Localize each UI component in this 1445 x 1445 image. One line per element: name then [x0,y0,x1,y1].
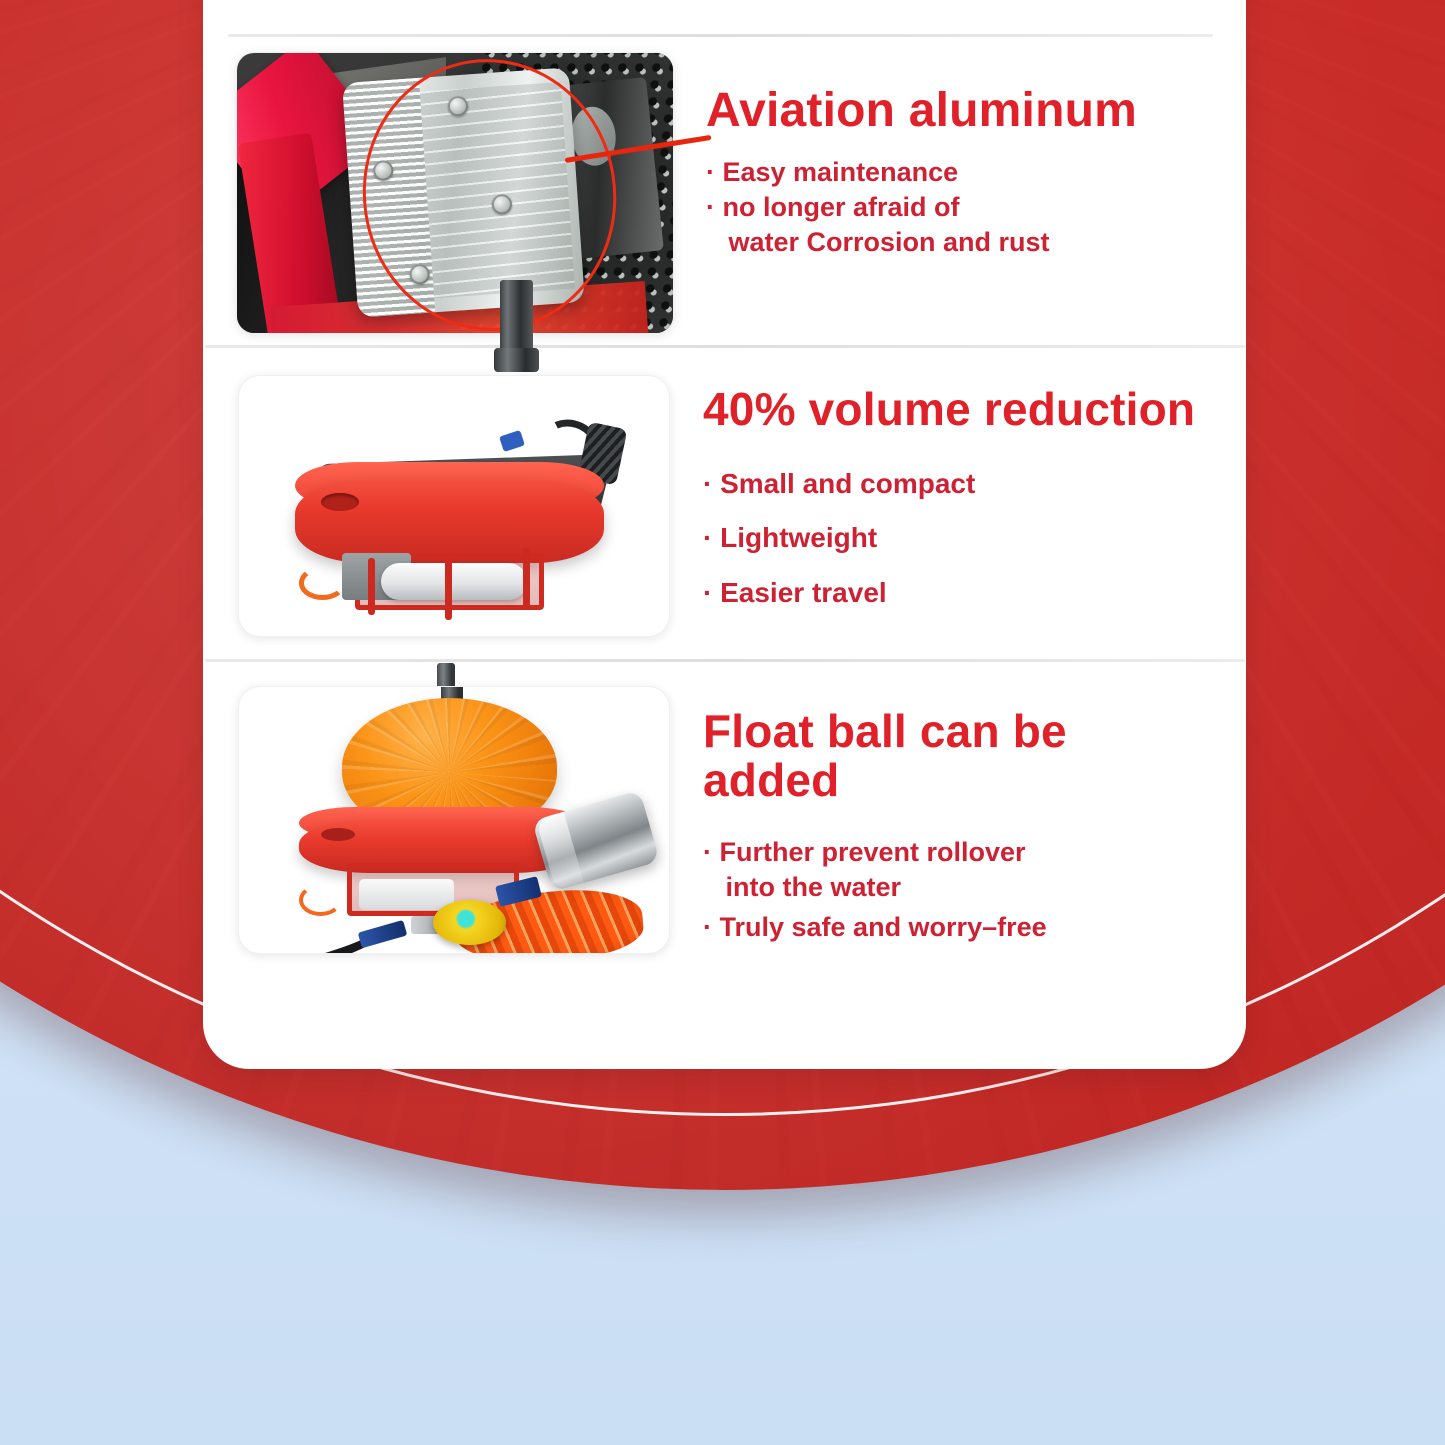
bullet-item: · Lightweight [703,520,1203,556]
bullet-item: · Truly safe and worry–free [703,910,1203,945]
frame-leg [445,558,452,620]
bullet-item: · no longer afraid of [706,190,1206,225]
feature-2-bullets: · Small and compact · Lightweight · Easi… [703,466,1203,611]
bullet-item: · Small and compact [703,466,1203,502]
bullet-item: · Easy maintenance [706,155,1206,190]
frame-leg [368,558,375,615]
feature-1-heading: Aviation aluminum [706,86,1206,137]
nozzle-pipe-overlay [500,280,533,372]
bullet-item: water Corrosion and rust [706,225,1206,260]
yellow-regulator [433,900,506,945]
feature-3-heading: Float ball can be added [703,707,1203,805]
bullet-item: · Further prevent rollover [703,835,1203,870]
feature-1-text: Aviation aluminum · Easy maintenance · n… [706,86,1206,260]
unit-assembly [239,376,669,636]
feature-2-image [238,375,670,637]
chrome-tank [532,790,660,892]
feature-2-text: 40% volume reduction · Small and compact… [703,385,1203,611]
feature-1-bullets: · Easy maintenance · no longer afraid of… [706,155,1206,260]
divider-top [228,34,1213,37]
feature-3-image [238,686,670,954]
feature-3-bullets: · Further prevent rollover into the wate… [703,835,1203,945]
feature-1-image [236,52,674,334]
divider-two-three [205,659,1245,662]
bullet-item: · Easier travel [703,575,1203,611]
motor-block [359,879,454,911]
bullet-item: into the water [703,870,1203,905]
frame-leg [523,548,530,610]
blue-fitting [499,430,525,452]
infographic-stage: Aviation aluminum · Easy maintenance · n… [0,0,1445,1445]
orange-hose [299,566,346,600]
feature-2-heading: 40% volume reduction [703,385,1203,434]
feature-3-text: Float ball can be added · Further preven… [703,707,1203,945]
white-cylinder-tank [381,563,527,599]
divider-one-two [205,345,1245,348]
